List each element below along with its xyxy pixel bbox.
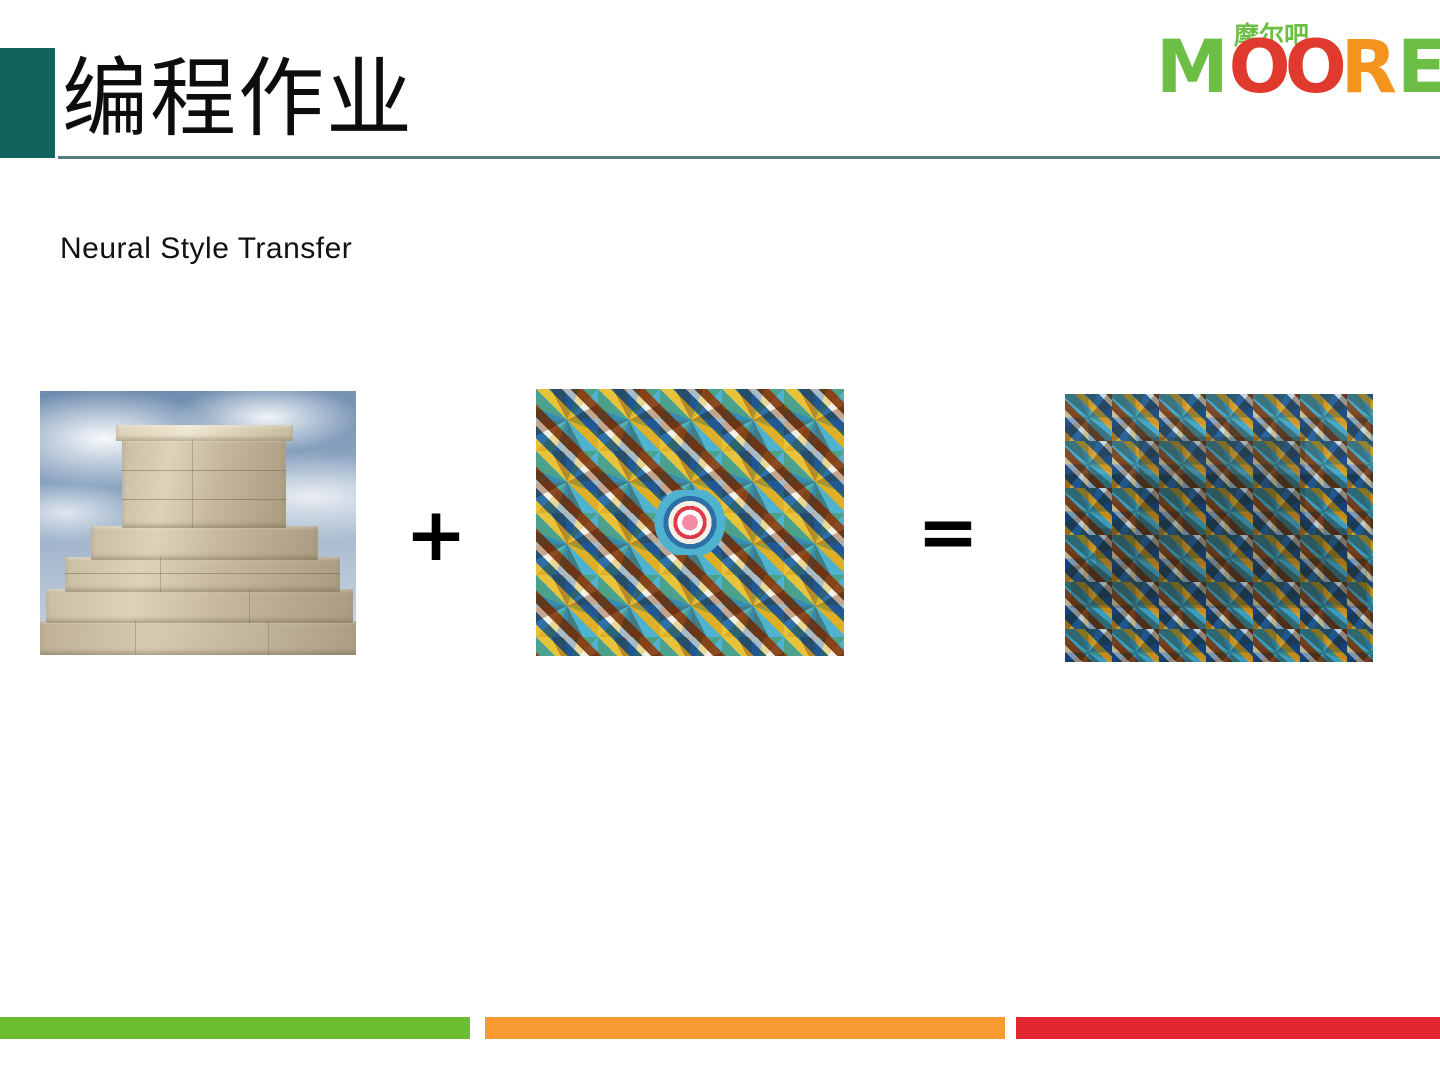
stylized-tomb-silhouette: [1071, 566, 1367, 609]
tomb-seam: [135, 621, 136, 655]
tomb-tier-1: [46, 589, 353, 623]
output-image: [1065, 394, 1373, 662]
style-image: [536, 389, 844, 656]
footer-color-bars: [0, 1017, 1440, 1039]
footer-bar-red: [1016, 1017, 1440, 1039]
plus-operator: +: [398, 498, 474, 572]
slide-header: 编程作业 摩尔吧 MOORE8: [0, 0, 1440, 165]
tomb-cap: [116, 425, 293, 441]
stylized-tomb-silhouette: [1139, 437, 1305, 528]
title-accent-bar: [0, 48, 55, 158]
footer-bar-green: [0, 1017, 470, 1039]
equals-operator: =: [910, 495, 986, 569]
brand-logo: 摩尔吧 MOORE8: [1156, 14, 1418, 106]
stylized-tomb-silhouette: [1096, 528, 1349, 566]
content-image: [40, 391, 356, 655]
tomb-seam: [249, 589, 250, 623]
subtitle-neural-style-transfer: Neural Style Transfer: [60, 232, 352, 266]
tomb-seam: [160, 557, 161, 591]
tomb-tier-3: [91, 526, 319, 560]
logo-letters-oo: OO: [1229, 25, 1341, 110]
title-underline-divider: [58, 156, 1440, 159]
logo-wordmark: MOORE8: [1156, 30, 1440, 106]
tomb-seam: [122, 470, 286, 471]
logo-letter-r: R: [1341, 25, 1397, 110]
tomb-seam: [65, 573, 340, 574]
tomb-seam: [268, 621, 269, 655]
logo-letter-m: M: [1156, 25, 1229, 110]
logo-letter-e: E: [1397, 25, 1440, 110]
tomb-seam: [122, 499, 286, 500]
tomb-seam: [192, 439, 193, 529]
page-title: 编程作业: [62, 44, 414, 154]
tomb-tier-base: [40, 621, 356, 655]
tomb-tier-2: [65, 557, 340, 591]
tomb-upper-chamber: [122, 439, 286, 529]
mosaic-central-medallion: [653, 490, 727, 554]
footer-bar-orange: [485, 1017, 1005, 1039]
